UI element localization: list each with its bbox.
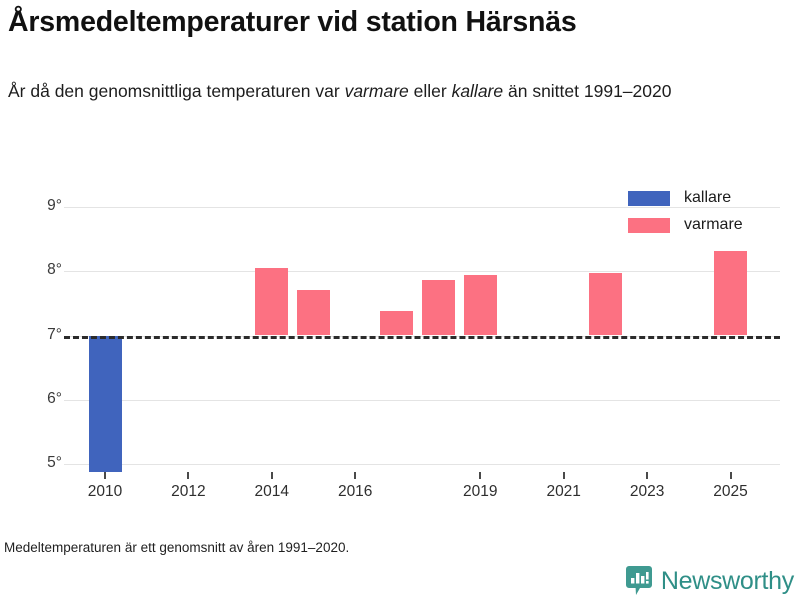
x-axis-tick-label: 2023 (630, 483, 664, 501)
y-axis-tick-label: 9° (47, 197, 62, 215)
chart-footnote: Medeltemperaturen är ett genomsnitt av å… (4, 540, 349, 555)
subtitle-run-1: varmare (345, 81, 409, 101)
x-axis-tick-label: 2019 (463, 483, 497, 501)
legend-label-varmare: varmare (684, 216, 743, 234)
x-axis-tick-2010 (104, 472, 106, 479)
y-axis-tick-label: 7° (47, 326, 62, 344)
subtitle-run-4: än snittet 1991–2020 (503, 81, 671, 101)
legend-swatch-kallare (628, 191, 670, 206)
x-axis-tick-2014 (271, 472, 273, 479)
bar-2025[interactable] (714, 251, 747, 335)
y-axis-tick-label: 6° (47, 390, 62, 408)
bar-2019[interactable] (464, 275, 497, 335)
legend-item-kallare[interactable]: kallare (628, 188, 743, 208)
page-title: Årsmedeltemperaturer vid station Härsnäs (8, 6, 792, 39)
x-axis-tick-label: 2014 (255, 483, 289, 501)
x-axis-tick-label: 2010 (88, 483, 122, 501)
subtitle-run-0: År då den genomsnittliga temperaturen va… (8, 81, 345, 101)
bar-2010[interactable] (89, 336, 122, 472)
gridline-6 (64, 400, 780, 401)
x-axis-tick-2012 (187, 472, 189, 479)
x-axis-tick-2019 (479, 472, 481, 479)
bar-2018[interactable] (422, 280, 455, 336)
x-axis-tick-label: 2025 (713, 483, 747, 501)
x-axis-tick-label: 2012 (171, 483, 205, 501)
y-axis-tick-label: 5° (47, 454, 62, 472)
legend-label-kallare: kallare (684, 189, 731, 207)
y-axis-tick-label: 8° (47, 261, 62, 279)
bar-2017[interactable] (380, 311, 413, 335)
x-axis-tick-label: 2021 (546, 483, 580, 501)
x-axis-tick-label: 2016 (338, 483, 372, 501)
chart-page: Årsmedeltemperaturer vid station Härsnäs… (0, 0, 800, 600)
x-axis-tick-2023 (646, 472, 648, 479)
legend-item-varmare[interactable]: varmare (628, 215, 743, 235)
newsworthy-logo[interactable]: Newsworthy (626, 566, 794, 596)
bar-2014[interactable] (255, 268, 288, 335)
subtitle-run-3: kallare (452, 81, 504, 101)
x-axis-tick-2021 (563, 472, 565, 479)
newsworthy-bubble-chart-icon (626, 566, 652, 596)
gridline-8 (64, 271, 780, 272)
legend-swatch-varmare (628, 218, 670, 233)
chart-legend: kallare varmare (628, 188, 743, 242)
subtitle-run-2: eller (409, 81, 452, 101)
gridline-5 (64, 464, 780, 465)
chart-subtitle: År då den genomsnittliga temperaturen va… (8, 78, 778, 105)
gridline-7 (64, 336, 780, 337)
newsworthy-wordmark: Newsworthy (661, 567, 794, 596)
x-axis-tick-2025 (730, 472, 732, 479)
x-axis-tick-2016 (354, 472, 356, 479)
bar-2022[interactable] (589, 273, 622, 335)
bar-2015[interactable] (297, 290, 330, 336)
baseline-average-line (64, 336, 780, 339)
